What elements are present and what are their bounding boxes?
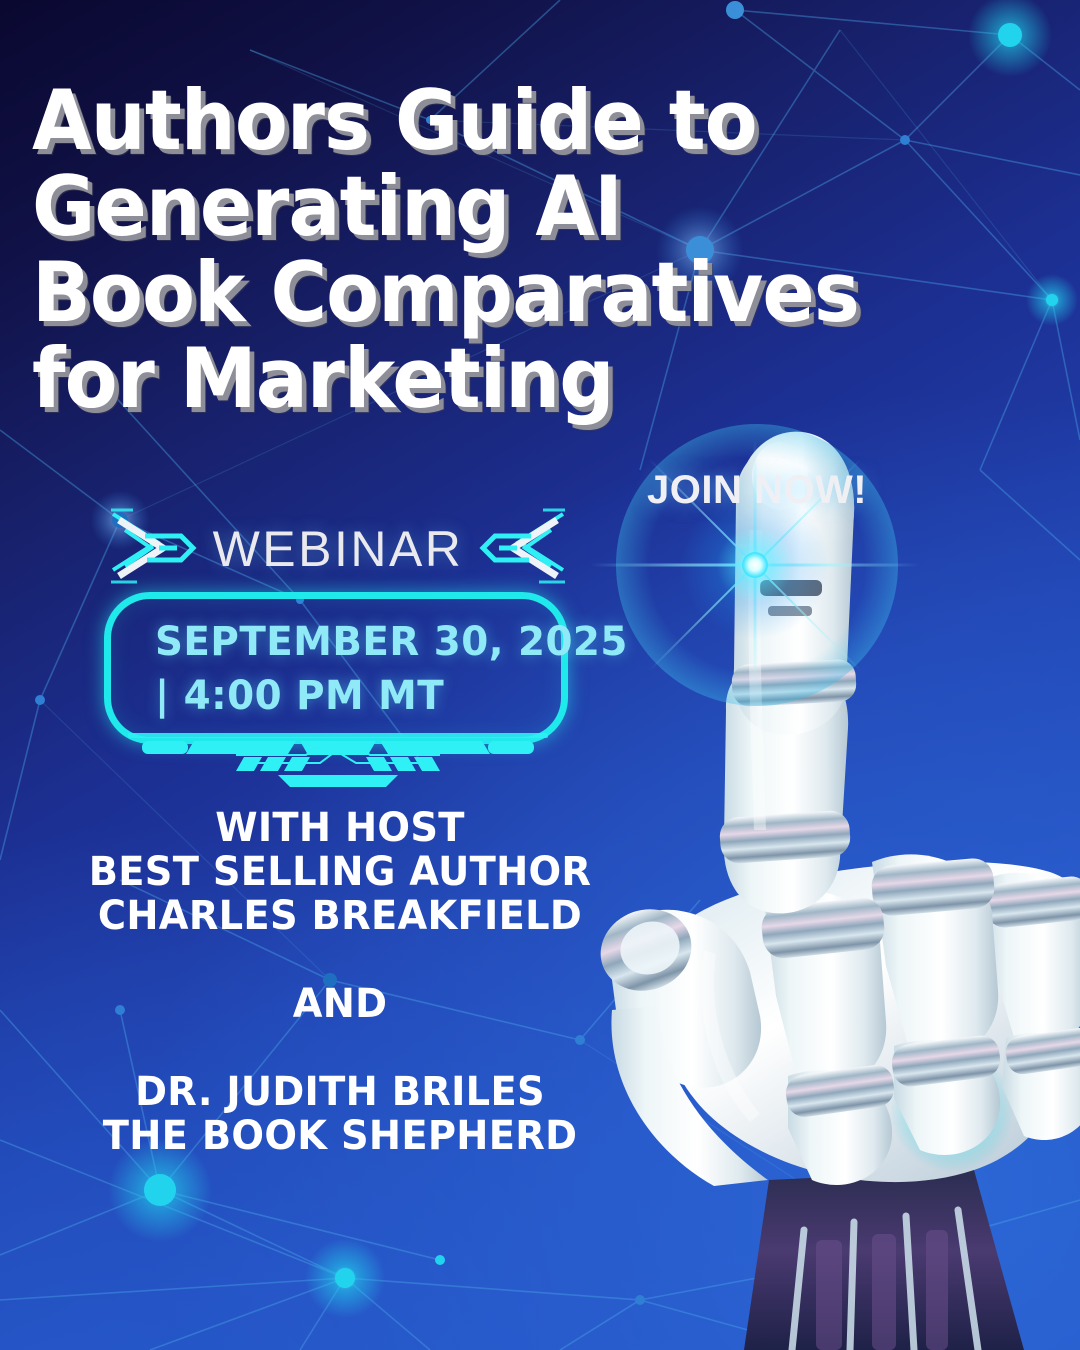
guest-title: THE BOOK SHEPHERD: [52, 1114, 628, 1158]
webinar-banner: WEBINAR: [98, 503, 578, 595]
page-title: Authors Guide to Generating AI Book Comp…: [32, 78, 869, 422]
guest-group: DR. JUDITH BRILES THE BOOK SHEPHERD: [52, 1070, 628, 1158]
date-time-badge: SEPTEMBER 30, 2025 | 4:00 PM MT: [104, 592, 568, 744]
host-information: WITH HOST BEST SELLING AUTHOR CHARLES BR…: [52, 806, 628, 1158]
chevron-right-ornament-icon: [107, 508, 199, 590]
with-host-label: WITH HOST: [52, 806, 628, 850]
webinar-time: | 4:00 PM MT: [155, 669, 549, 723]
webinar-label: WEBINAR: [213, 520, 464, 578]
chevron-left-ornament-icon: [477, 508, 569, 590]
webinar-poster: Authors Guide to Generating AI Book Comp…: [0, 0, 1080, 1350]
conjunction-label: AND: [52, 982, 628, 1026]
hud-ornament-bar-icon: [128, 733, 548, 791]
conjunction-group: AND: [52, 982, 628, 1026]
guest-name: DR. JUDITH BRILES: [52, 1070, 628, 1114]
host-credential: BEST SELLING AUTHOR: [52, 850, 628, 894]
join-now-callout[interactable]: JOIN NOW!: [612, 468, 902, 513]
webinar-date: SEPTEMBER 30, 2025: [155, 615, 549, 669]
host-name: CHARLES BREAKFIELD: [52, 894, 628, 938]
host-group: WITH HOST BEST SELLING AUTHOR CHARLES BR…: [52, 806, 628, 938]
